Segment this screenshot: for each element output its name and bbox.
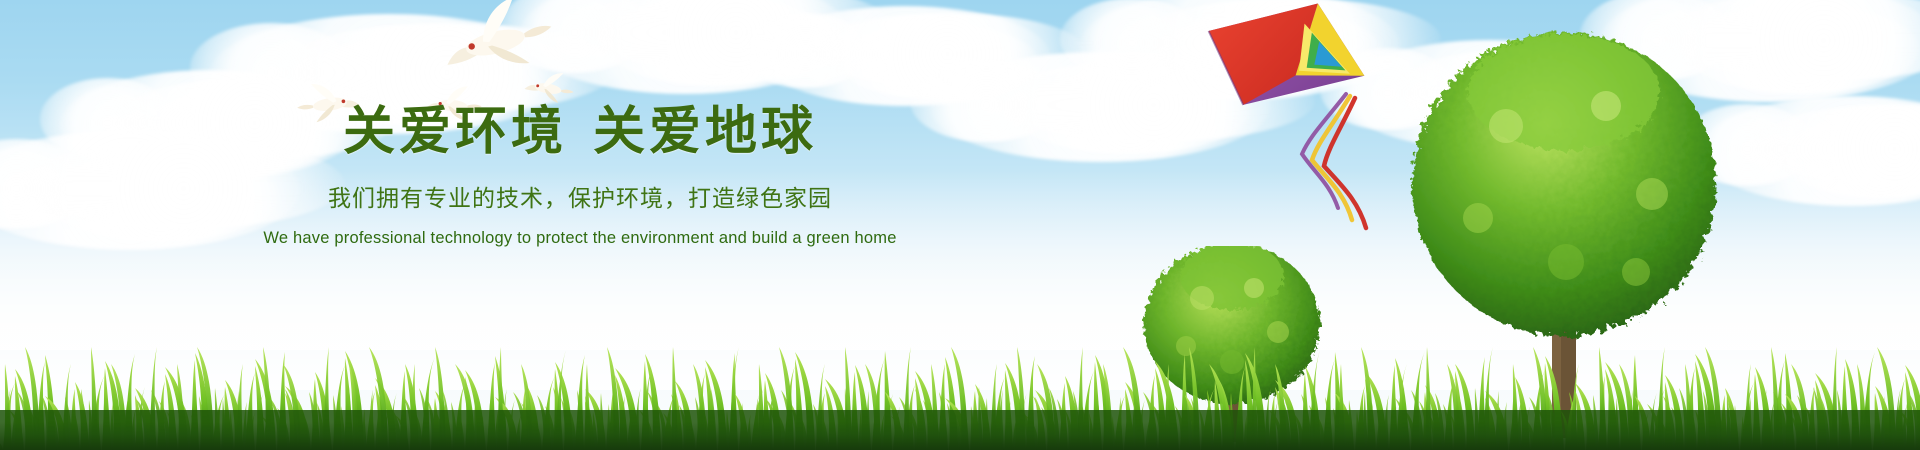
cloud-puff (1600, 0, 1920, 102)
subtitle-chinese: 我们拥有专业的技术，保护环境，打造绿色家园 (0, 184, 1160, 214)
cloud-puff (810, 13, 1086, 88)
cloud-puff (276, 23, 618, 113)
cloud-puff (740, 13, 871, 88)
cloud-puff (1416, 60, 1626, 143)
eco-banner: 关爱环境关爱地球 我们拥有专业的技术，保护环境，打造绿色家园 We have p… (0, 0, 1920, 450)
cloud-puff (1060, 0, 1204, 80)
headline-part-2: 关爱地球 (593, 103, 817, 161)
cloud-puff (1158, 10, 1382, 93)
cloud-puff (1752, 104, 1920, 187)
cloud-puff (835, 24, 1038, 99)
cloud-puff (1680, 104, 1815, 187)
cloud-puff (1580, 0, 1733, 81)
banner-copy: 关爱环境关爱地球 我们拥有专业的技术，保护环境，打造绿色家园 We have p… (0, 104, 1160, 249)
cloud-puff (1681, 4, 1919, 94)
cloud-puff (1662, 0, 1920, 81)
cloud-puff (500, 0, 649, 73)
subtitle-english: We have professional technology to prote… (0, 228, 1160, 249)
cloud-puff (520, 0, 850, 94)
cloud-puff (1320, 48, 1455, 131)
cloud-puff (579, 0, 893, 73)
cloud-puff (600, 0, 831, 86)
cloud-puff (1340, 40, 1640, 150)
cloud-puff (1776, 116, 1920, 199)
cloud-puff (760, 6, 1050, 106)
page-title: 关爱环境关爱地球 (0, 104, 1160, 160)
cloud-puff (1700, 96, 1920, 206)
headline-part-1: 关爱环境 (343, 103, 567, 161)
cloud-puff (1137, 0, 1441, 80)
cloud-haze-horizon (0, 250, 1920, 390)
cloud-puff (1392, 48, 1677, 131)
cloud-puff (190, 23, 352, 113)
cloud-puff (1080, 0, 1400, 100)
